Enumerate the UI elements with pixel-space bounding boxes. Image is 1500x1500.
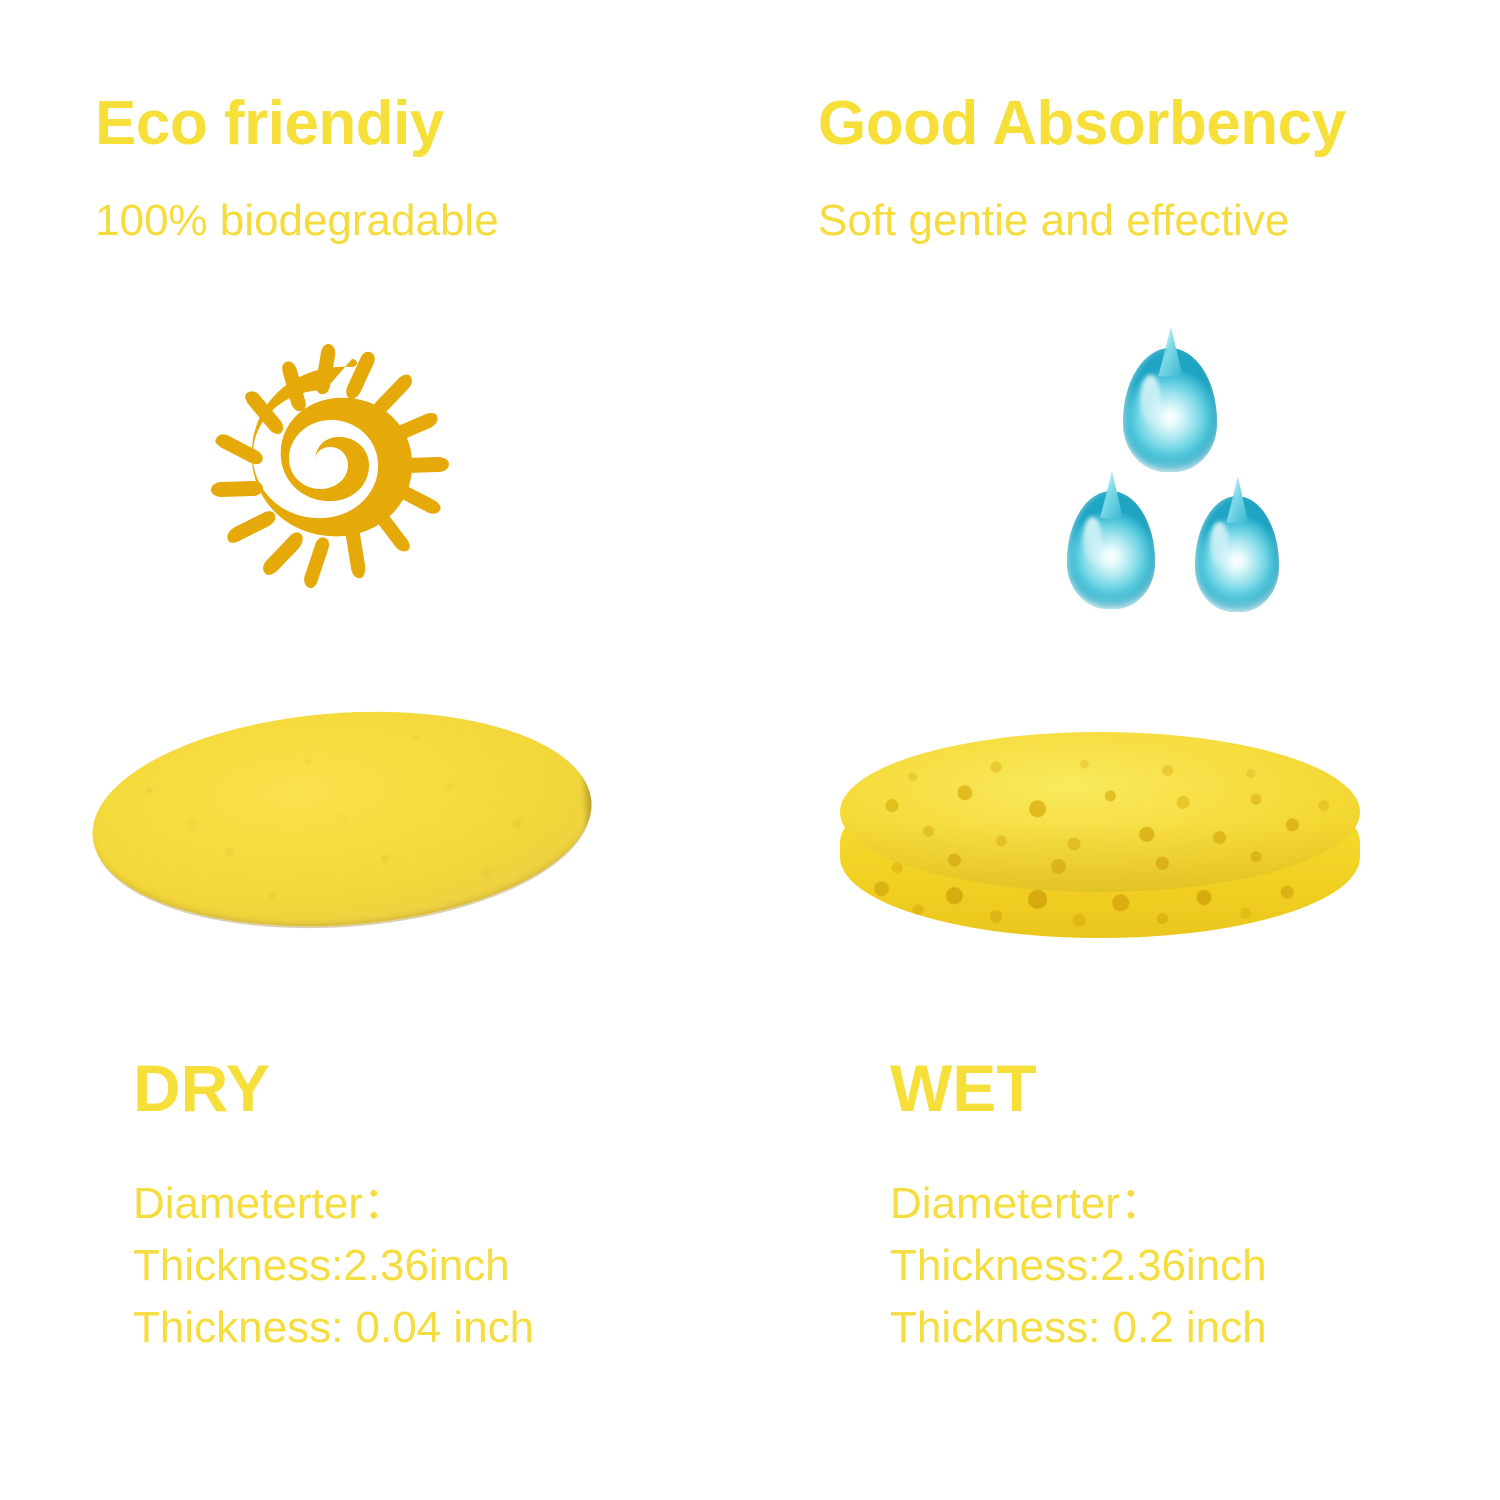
water-droplet-left: [1067, 491, 1155, 609]
spec-line-diameter: Diameterter：: [890, 1173, 1267, 1235]
water-droplet-right: [1195, 496, 1279, 612]
state-label-wet: WET: [890, 1055, 1267, 1121]
state-label-dry: DRY: [133, 1055, 534, 1121]
sponge-zone-right: [750, 680, 1500, 980]
sponge-pores-top: [840, 732, 1360, 892]
panel-eco-friendly: Eco friendiy 100% biodegradable: [0, 0, 750, 1500]
spec-line-thickness-2: Thickness: 0.04 inch: [133, 1297, 534, 1359]
spec-line-thickness-1: Thickness:2.36inch: [890, 1235, 1267, 1297]
spec-line-thickness-2: Thickness: 0.2 inch: [890, 1297, 1267, 1359]
panel-headline: Eco friendiy: [95, 93, 444, 155]
icon-zone-right: [750, 330, 1500, 630]
wet-sponge-disc: [840, 732, 1360, 944]
water-droplet-top: [1123, 348, 1217, 472]
spec-block-wet: WET Diameterter： Thickness:2.36inch Thic…: [890, 1055, 1267, 1359]
sun-icon: [200, 338, 462, 606]
sponge-top-surface: [840, 732, 1360, 892]
panel-subline: 100% biodegradable: [95, 199, 499, 243]
panel-headline: Good Absorbency: [818, 93, 1346, 155]
panel-good-absorbency: Good Absorbency Soft gentie and effectiv…: [750, 0, 1500, 1500]
water-droplets-icon: [1005, 336, 1295, 636]
sponge-zone-left: [0, 680, 750, 980]
spec-block-dry: DRY Diameterter： Thickness:2.36inch Thic…: [133, 1055, 534, 1359]
panel-subline: Soft gentie and effective: [818, 199, 1289, 243]
dry-sponge-disc: [85, 696, 599, 942]
sponge-texture: [85, 696, 599, 942]
spec-line-diameter: Diameterter：: [133, 1173, 534, 1235]
icon-zone-left: [0, 330, 750, 630]
spec-line-thickness-1: Thickness:2.36inch: [133, 1235, 534, 1297]
